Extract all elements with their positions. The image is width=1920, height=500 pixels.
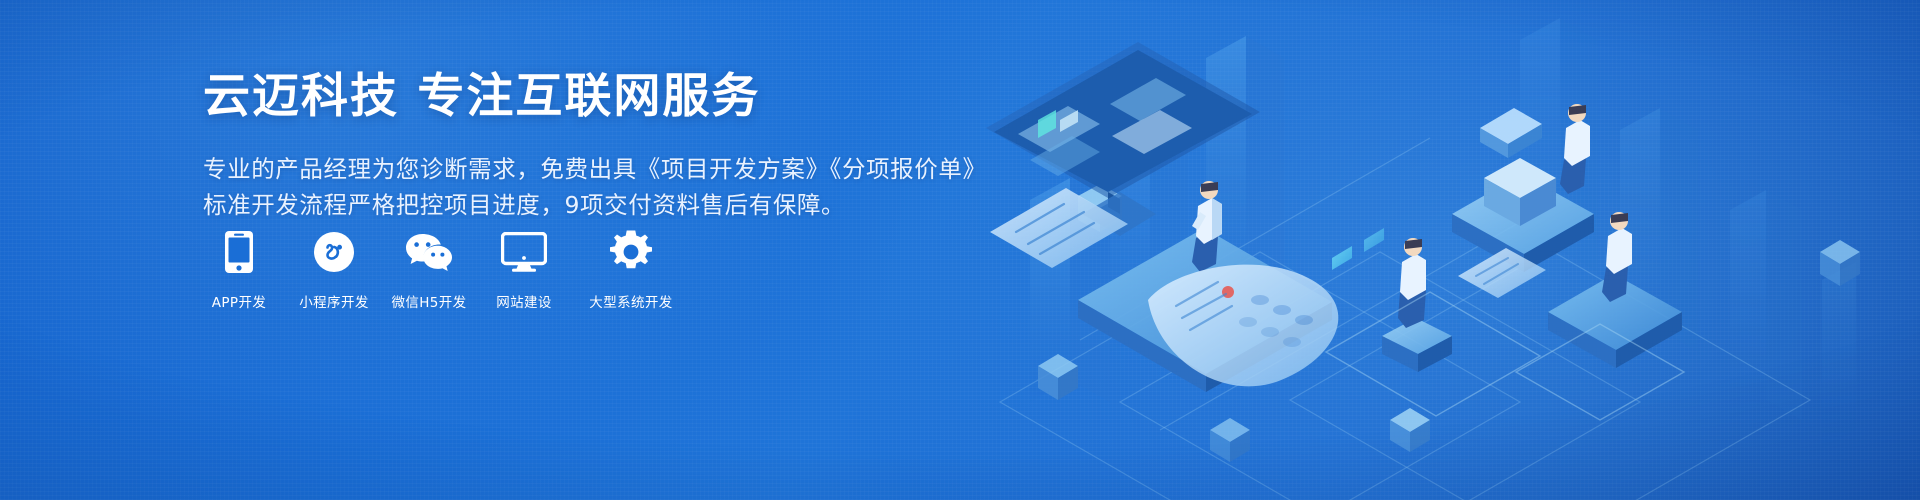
page-title: 云迈科技 专注互联网服务 [203, 72, 963, 123]
service-item-large-system[interactable]: 大型系统开发 [583, 228, 679, 311]
hero-banner: 云迈科技 专注互联网服务 专业的产品经理为您诊断需求，免费出具《项目开发方案》《… [0, 0, 1920, 500]
service-item-website[interactable]: 网站建设 [488, 228, 560, 311]
subtitle-line-2: 标准开发流程严格把控项目进度，9项交付资料售后有保障。 [203, 187, 963, 223]
service-item-wechat-h5[interactable]: 微信H5开发 [393, 228, 465, 311]
illustration-area [960, 0, 1920, 500]
hero-copy: 云迈科技 专注互联网服务 专业的产品经理为您诊断需求，免费出具《项目开发方案》《… [203, 72, 963, 223]
mini-program-icon [313, 228, 355, 276]
service-item-app[interactable]: APP开发 [203, 228, 275, 311]
person-seated-left [1382, 238, 1452, 372]
service-label-large-system: 大型系统开发 [589, 291, 672, 311]
service-label-mini-program: 小程序开发 [299, 291, 369, 311]
accent-chevrons [1332, 228, 1384, 270]
service-label-wechat-h5: 微信H5开发 [391, 291, 466, 311]
subtitle-block: 专业的产品经理为您诊断需求，免费出具《项目开发方案》《分项报价单》 标准开发流程… [203, 151, 963, 223]
gear-icon [609, 228, 653, 276]
subtitle-line-1: 专业的产品经理为您诊断需求，免费出具《项目开发方案》《分项报价单》 [203, 151, 963, 187]
mobile-phone-icon [224, 228, 254, 276]
service-list: APP开发 小程序开发 [203, 228, 679, 311]
service-label-app: APP开发 [212, 291, 267, 311]
service-label-website: 网站建设 [496, 291, 552, 311]
service-item-mini-program[interactable]: 小程序开发 [298, 228, 370, 311]
wechat-icon [404, 228, 454, 276]
monitor-icon [501, 228, 547, 276]
